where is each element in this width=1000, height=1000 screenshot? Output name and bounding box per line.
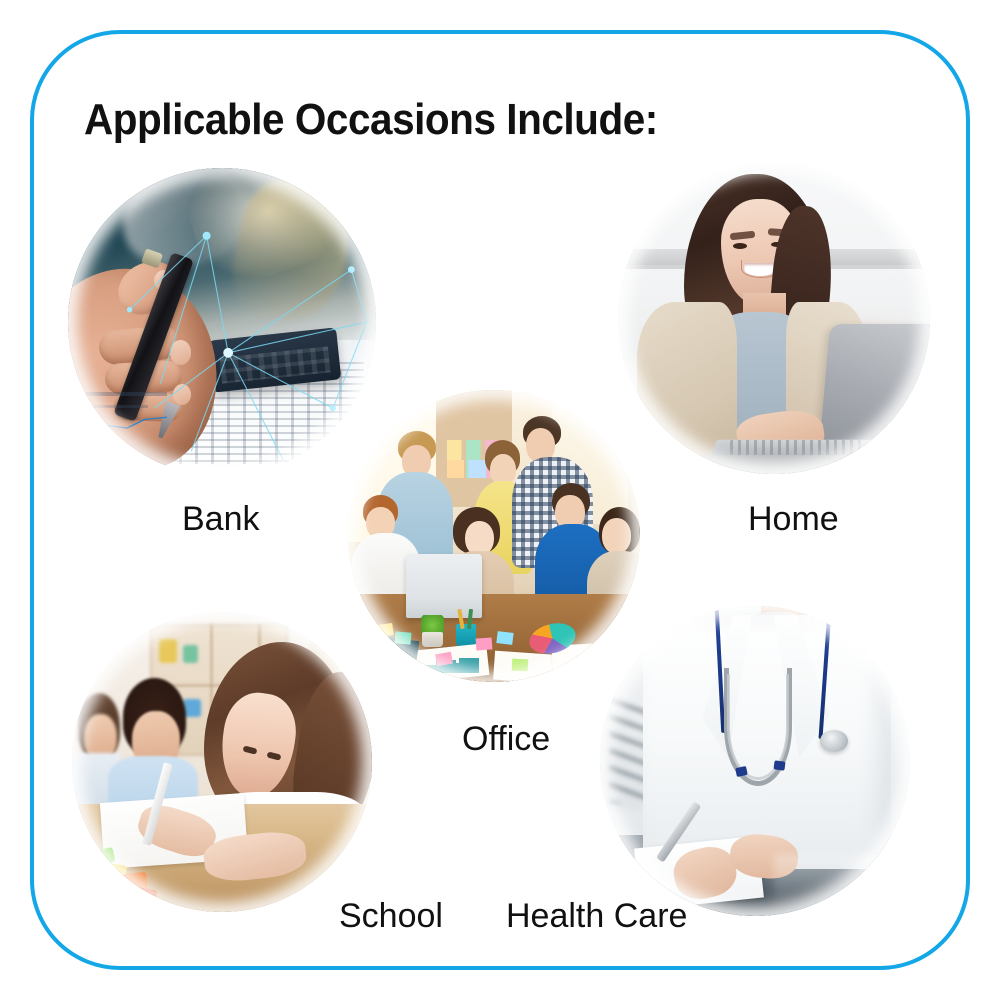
office-photo (348, 390, 640, 682)
occasion-label-office: Office (462, 720, 550, 759)
home-photo (618, 162, 930, 474)
occasion-label-bank: Bank (182, 500, 260, 539)
page-title: Applicable Occasions Include: (84, 95, 658, 145)
school-photo (72, 612, 372, 912)
occasion-label-home: Home (748, 500, 839, 539)
occasion-label-school: School (339, 897, 443, 936)
occasion-circle-bank[interactable] (68, 168, 376, 476)
chart-line-icon (93, 414, 167, 436)
applicable-occasions-poster: Applicable Occasions Include: (0, 0, 1000, 1000)
occasion-circle-healthcare[interactable] (600, 606, 910, 916)
healthcare-photo (600, 606, 910, 916)
occasion-circle-home[interactable] (618, 162, 930, 474)
occasion-circle-office[interactable] (348, 390, 640, 682)
bank-photo (68, 168, 376, 476)
occasion-circle-school[interactable] (72, 612, 372, 912)
occasion-label-healthcare: Health Care (506, 897, 687, 936)
